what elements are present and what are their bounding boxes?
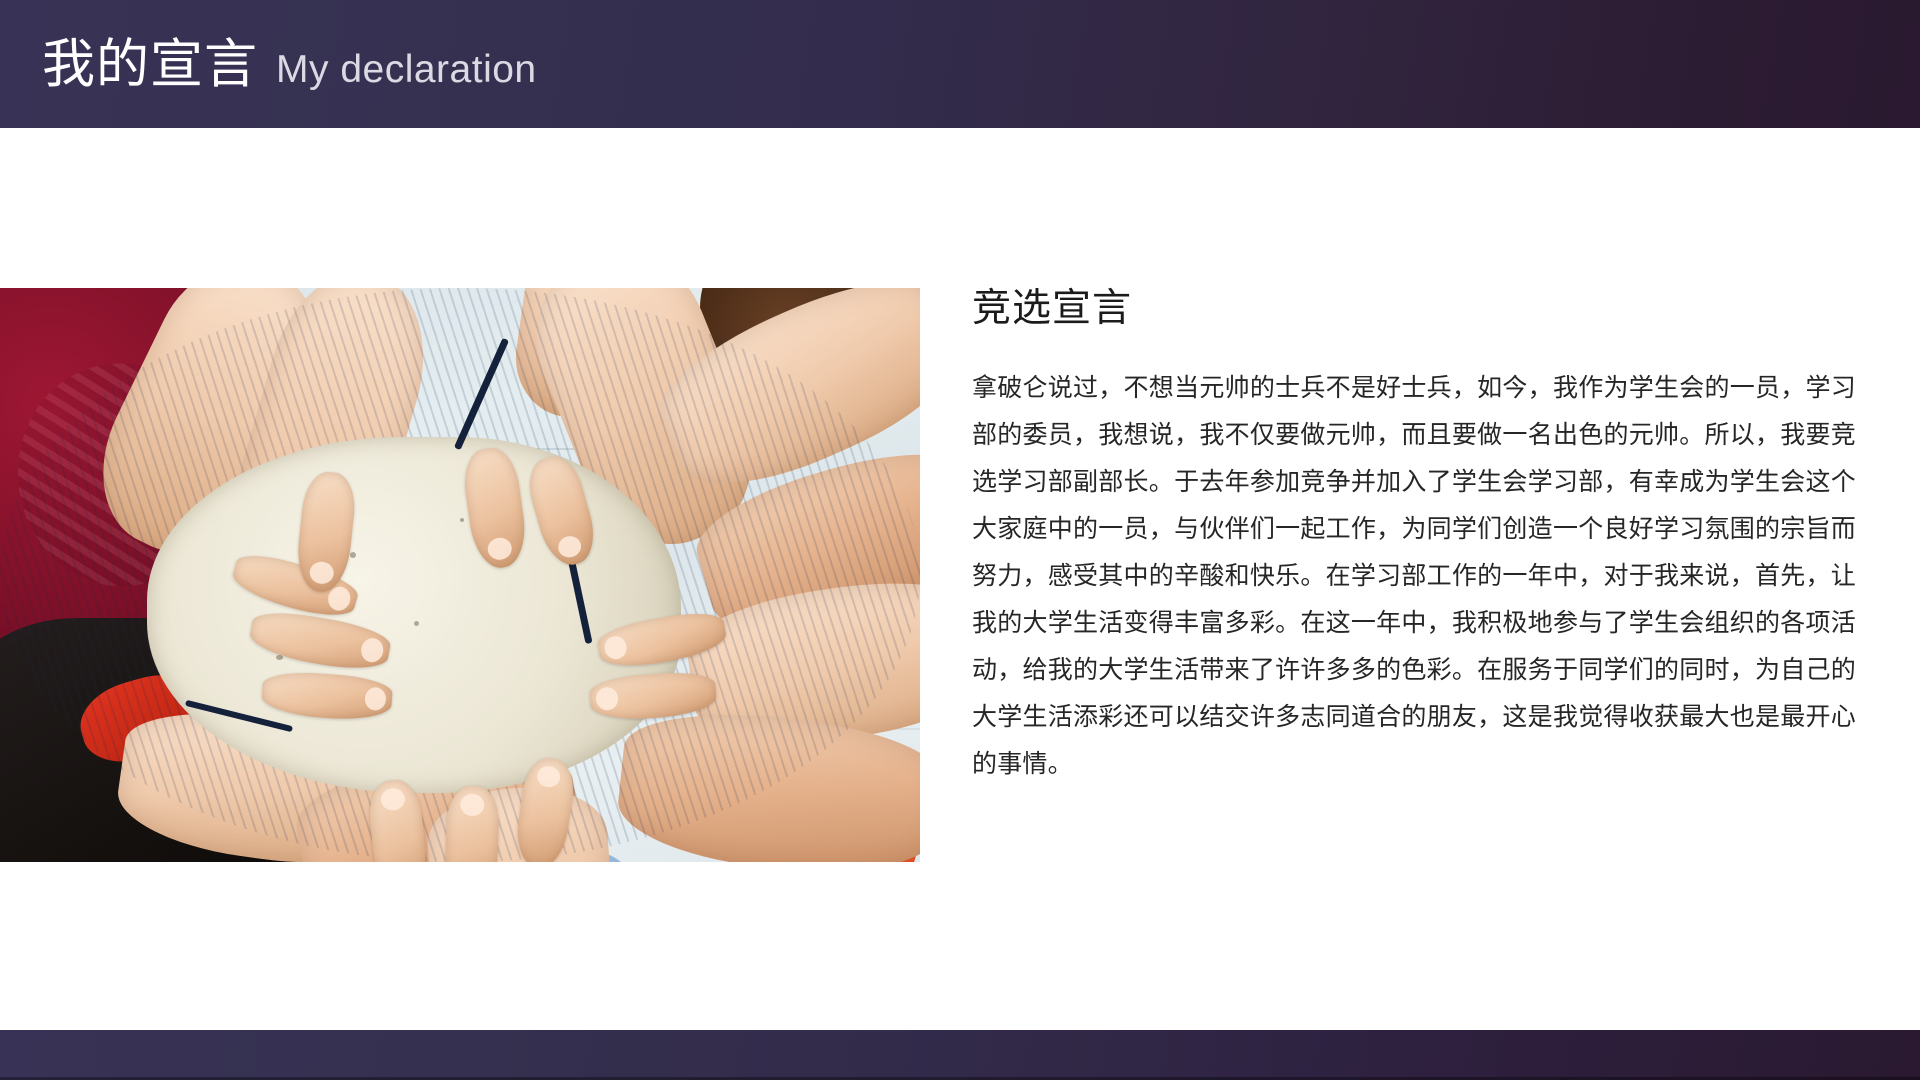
page-title-cn: 我的宣言: [42, 38, 258, 91]
page-title-en: My declaration: [276, 50, 537, 89]
slide: 我的宣言 My declaration: [0, 0, 1920, 1080]
fingernail: [536, 765, 562, 789]
fingernail: [486, 536, 513, 561]
section-heading: 竞选宣言: [972, 288, 1856, 331]
declaration-content: 竞选宣言 拿破仑说过，不想当元帅的士兵不是好士兵，如今，我作为学生会的一员，学习…: [972, 288, 1856, 788]
header-title-group: 我的宣言 My declaration: [0, 38, 537, 91]
fingernail: [556, 534, 584, 561]
fingernail: [364, 687, 387, 711]
fingernail: [309, 561, 335, 585]
slide-footer-bar: [0, 1030, 1920, 1080]
team-hands-photo: [0, 288, 920, 862]
fingernail: [603, 634, 629, 660]
photo-scene: [0, 288, 920, 862]
declaration-paragraph: 拿破仑说过，不想当元帅的士兵不是好士兵，如今，我作为学生会的一员，学习部的委员，…: [972, 365, 1856, 788]
slide-header-bar: 我的宣言 My declaration: [0, 0, 1920, 128]
fingernail: [595, 686, 619, 710]
fingernail: [380, 787, 406, 811]
fingernail: [460, 794, 485, 817]
fingernail: [359, 636, 385, 663]
